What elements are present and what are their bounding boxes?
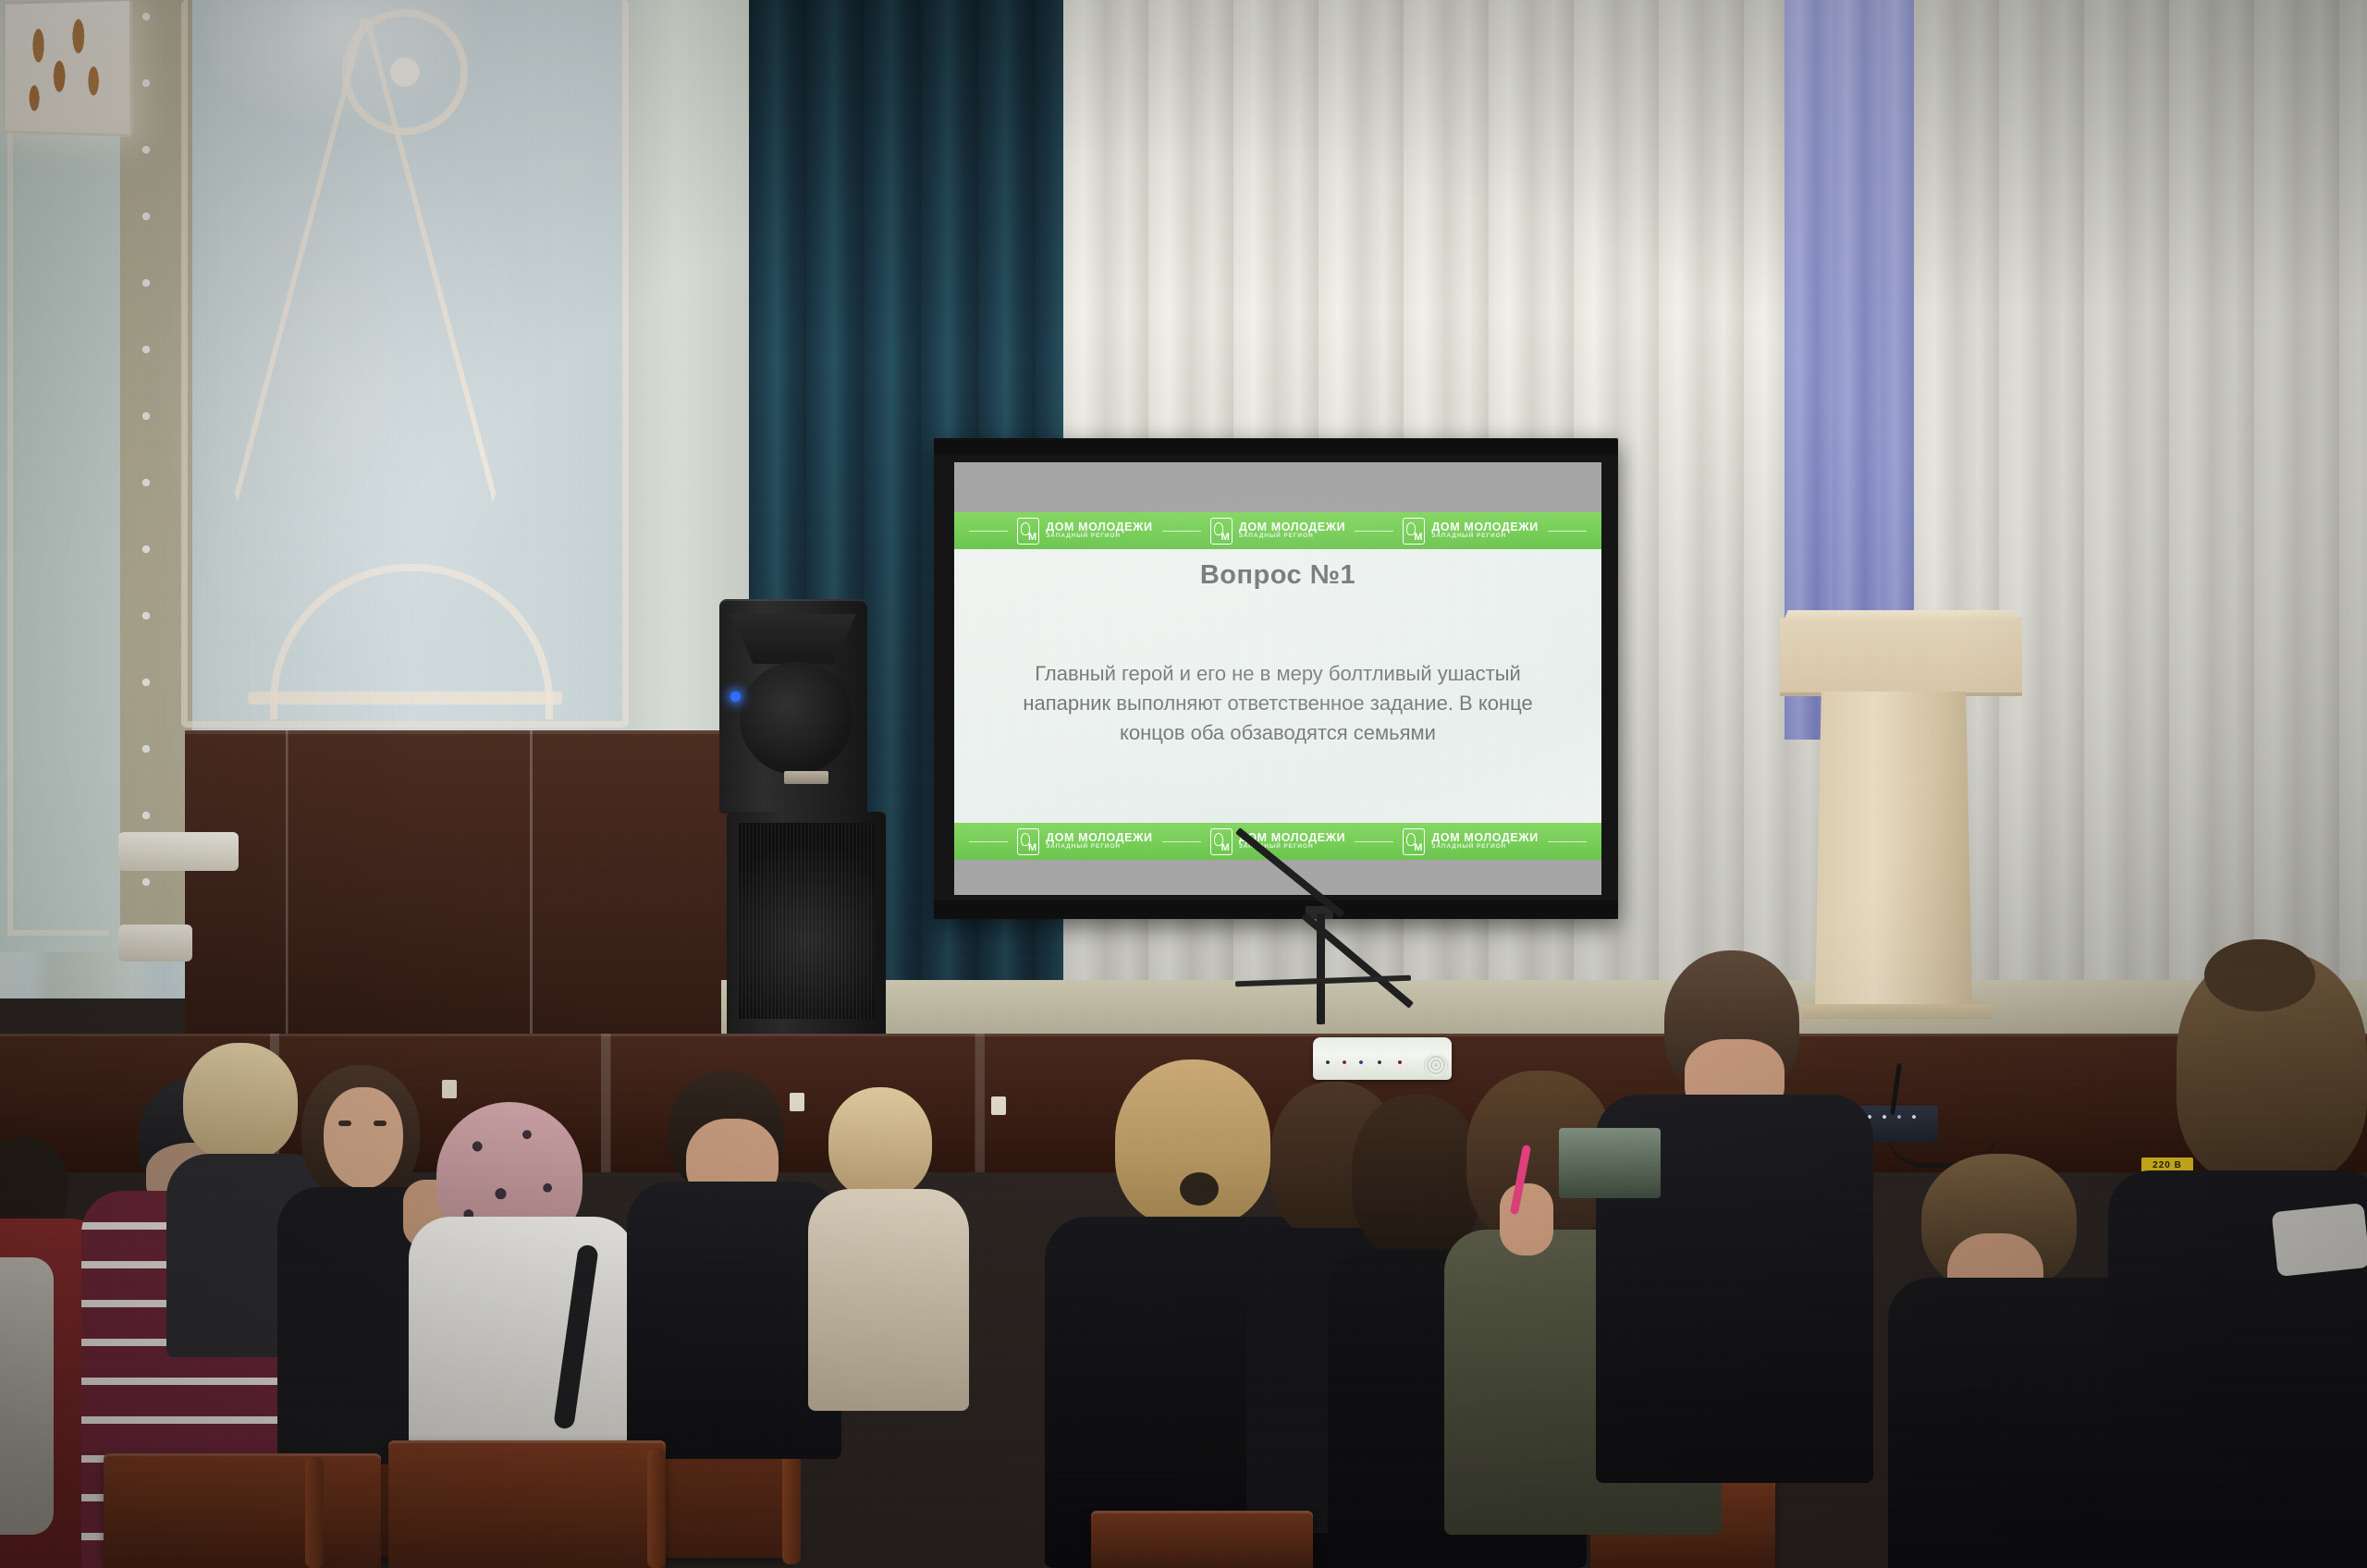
- wall-pipe-lower: [118, 925, 192, 962]
- person-eye: [338, 1121, 351, 1126]
- pa-speaker-cone-icon: [740, 662, 852, 775]
- laptop-screen[interactable]: [1559, 1128, 1661, 1198]
- brand-lockup: ДОМ МОЛОДЕЖИ ЗАПАДНЫЙ РЕГИОН: [1017, 518, 1152, 545]
- band-rule: [969, 841, 1008, 842]
- slide-body-text: Главный герой и его не в меру болтливый …: [996, 659, 1560, 748]
- wall-relief-medallion: [342, 9, 468, 135]
- brand-subtitle: ЗАПАДНЫЙ РЕГИОН: [1046, 533, 1152, 540]
- dom-molodezhi-logo-icon: [1210, 518, 1233, 545]
- tripod-projection-screen[interactable]: ДОМ МОЛОДЕЖИ ЗАПАДНЫЙ РЕГИОН ДОМ МОЛОДЕЖ…: [934, 438, 1618, 919]
- wall-patterned-stripe: [120, 0, 192, 952]
- slide-band-bottom: ДОМ МОЛОДЕЖИ ЗАПАДНЫЙ РЕГИОН ДОМ МОЛОДЕЖ…: [954, 823, 1601, 860]
- screen-top-bar: [934, 438, 1618, 455]
- auditorium-photo: ДОМ МОЛОДЕЖИ ЗАПАДНЫЙ РЕГИОН ДОМ МОЛОДЕЖ…: [0, 0, 2367, 1568]
- brand-lockup: ДОМ МОЛОДЕЖИ ЗАПАДНЫЙ РЕГИОН: [1403, 828, 1538, 855]
- seat-armrest: [305, 1457, 324, 1568]
- person-eye: [374, 1121, 386, 1126]
- lectern-top: [1780, 618, 2022, 696]
- garment-accent: [2272, 1203, 2367, 1277]
- lectern-column: [1815, 692, 1972, 1011]
- wall-relief-frame: [181, 0, 629, 728]
- wall-sconce-lamp-icon: [3, 0, 132, 137]
- wall-relief-base: [248, 692, 562, 704]
- slide-content: Вопрос №1 Главный герой и его не в меру …: [954, 549, 1601, 823]
- wall-relief-arch: [270, 564, 553, 719]
- band-rule: [969, 531, 1008, 532]
- seat-armrest: [647, 1448, 666, 1568]
- person-hair: [183, 1043, 298, 1161]
- slide-title: Вопрос №1: [1200, 560, 1355, 591]
- brand-subtitle: ЗАПАДНЫЙ РЕГИОН: [1239, 533, 1345, 540]
- brand-lockup: ДОМ МОЛОДЕЖИ ЗАПАДНЫЙ РЕГИОН: [1403, 518, 1538, 545]
- band-rule: [1355, 841, 1393, 842]
- wall-relief-v-motif: [213, 18, 518, 592]
- screen-surface: ДОМ МОЛОДЕЖИ ЗАПАДНЫЙ РЕГИОН ДОМ МОЛОДЕЖ…: [954, 462, 1601, 895]
- brand-lockup: ДОМ МОЛОДЕЖИ ЗАПАДНЫЙ РЕГИОН: [1210, 828, 1345, 855]
- dom-molodezhi-logo-icon: [1017, 518, 1039, 545]
- dom-molodezhi-logo-icon: [1210, 828, 1233, 855]
- slide-band-top: ДОМ МОЛОДЕЖИ ЗАПАДНЫЙ РЕГИОН ДОМ МОЛОДЕЖ…: [954, 512, 1601, 549]
- band-rule: [1162, 841, 1201, 842]
- band-rule: [1355, 531, 1393, 532]
- presentation-slide: ДОМ МОЛОДЕЖИ ЗАПАДНЫЙ РЕГИОН ДОМ МОЛОДЕЖ…: [954, 512, 1601, 860]
- audience-area: [0, 980, 2367, 1568]
- brand-subtitle: ЗАПАДНЫЙ РЕГИОН: [1431, 844, 1538, 851]
- theater-seat[interactable]: [1091, 1511, 1313, 1568]
- dom-molodezhi-logo-icon: [1017, 828, 1039, 855]
- theater-seat[interactable]: [104, 1453, 381, 1568]
- hair-bun: [2204, 939, 2315, 1011]
- brand-subtitle: ЗАПАДНЫЙ РЕГИОН: [1046, 844, 1152, 851]
- person-garment-accent: [0, 1257, 54, 1535]
- wooden-lectern[interactable]: [1780, 618, 2022, 1015]
- speaker-power-led-icon: [730, 692, 741, 702]
- person-hair: [828, 1087, 932, 1198]
- dom-molodezhi-logo-icon: [1403, 828, 1425, 855]
- band-rule: [1548, 841, 1587, 842]
- theater-seat[interactable]: [388, 1440, 666, 1568]
- hair-tie: [1180, 1172, 1219, 1206]
- person-torso: [808, 1189, 969, 1411]
- band-rule: [1548, 531, 1587, 532]
- wall-pipe: [118, 832, 239, 871]
- speaker-brand-badge: [784, 771, 828, 784]
- person-face: [324, 1087, 403, 1189]
- brand-lockup: ДОМ МОЛОДЕЖИ ЗАПАДНЫЙ РЕГИОН: [1210, 518, 1345, 545]
- wall-pilaster-left: [0, 0, 118, 952]
- brand-subtitle: ЗАПАДНЫЙ РЕГИОН: [1431, 533, 1538, 540]
- dom-molodezhi-logo-icon: [1403, 518, 1425, 545]
- person-hand: [1500, 1183, 1553, 1256]
- brand-lockup: ДОМ МОЛОДЕЖИ ЗАПАДНЫЙ РЕГИОН: [1017, 828, 1152, 855]
- person-hair: [1352, 1095, 1481, 1257]
- band-rule: [1162, 531, 1201, 532]
